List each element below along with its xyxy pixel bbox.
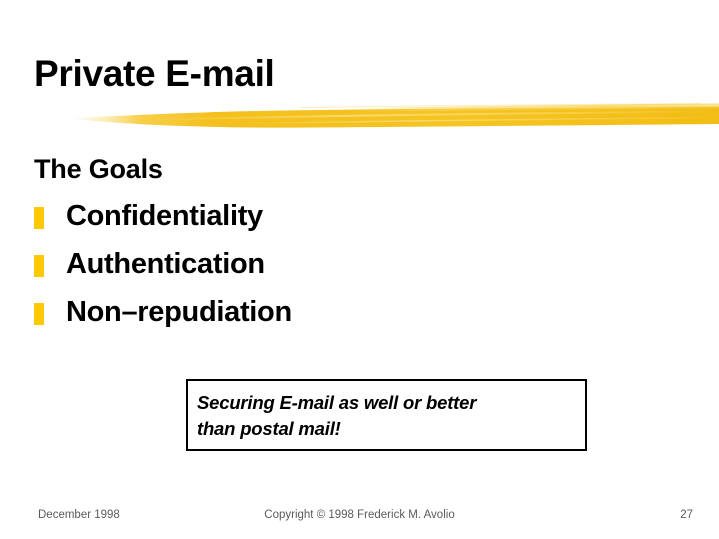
footer-copyright: Copyright © 1998 Frederick M. Avolio — [0, 507, 719, 523]
callout-box: Securing E-mail as well or better than p… — [186, 379, 587, 451]
square-bullet-icon — [34, 303, 44, 325]
brush-stroke-streak-2 — [240, 117, 719, 124]
slide-footer: December 1998 Copyright © 1998 Frederick… — [0, 505, 719, 525]
callout-text: Securing E-mail as well or better than p… — [197, 390, 577, 442]
slide-title: Private E-mail — [34, 52, 275, 96]
goals-heading: The Goals — [34, 152, 594, 186]
bullet-item-authentication: Authentication — [34, 246, 594, 283]
footer-page-number: 27 — [680, 507, 693, 523]
slide-body: The Goals Confidentiality Authentication… — [34, 152, 594, 342]
brush-stroke-divider — [0, 98, 719, 134]
slide-canvas: Private E-mail — [0, 0, 719, 539]
bullet-item-non-repudiation: Non–repudiation — [34, 294, 594, 331]
bullet-item-confidentiality: Confidentiality — [34, 198, 594, 235]
brush-stroke-icon — [0, 98, 719, 134]
bullet-label: Non–repudiation — [66, 294, 292, 330]
brush-stroke-top-wash — [190, 103, 719, 114]
square-bullet-icon — [34, 207, 44, 229]
brush-stroke-speckle — [300, 103, 700, 108]
brush-stroke-streak-1 — [150, 110, 719, 120]
bullet-label: Authentication — [66, 246, 265, 282]
brush-stroke-body — [70, 107, 719, 128]
callout-line-2: than postal mail! — [197, 418, 341, 439]
callout-line-1: Securing E-mail as well or better — [197, 392, 476, 413]
bullet-label: Confidentiality — [66, 198, 263, 234]
square-bullet-icon — [34, 255, 44, 277]
